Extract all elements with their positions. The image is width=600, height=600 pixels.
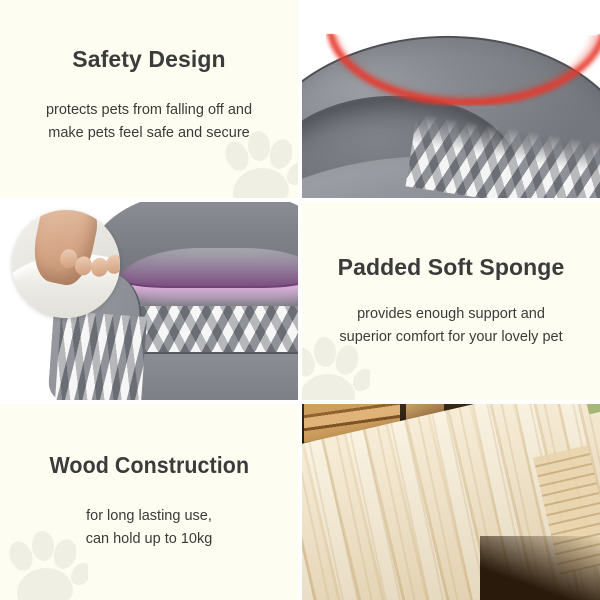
panel-wood-planks-photo <box>302 404 600 600</box>
magnifier-inset-circle <box>12 210 120 318</box>
workbench-shadow <box>480 536 600 600</box>
panel-padded-soft-sponge: Padded Soft Sponge provides enough suppo… <box>302 202 600 400</box>
panel-title-wood-construction: Wood Construction <box>49 452 249 479</box>
panel-title-safety-design: Safety Design <box>72 46 225 73</box>
paw-print-watermark-icon <box>2 530 88 600</box>
pet-bed-cushion <box>116 248 298 310</box>
panel-body-safety-design: protects pets from falling off and make … <box>46 99 252 145</box>
panel-body-wood-construction: for long lasting use, can hold up to 10k… <box>86 505 213 551</box>
panel-safety-design: Safety Design protects pets from falling… <box>0 0 298 198</box>
product-feature-infographic: Safety Design protects pets from falling… <box>0 0 600 600</box>
panel-title-padded-soft-sponge: Padded Soft Sponge <box>338 254 565 281</box>
pet-bed-lower-base <box>140 352 298 400</box>
panel-body-padded-soft-sponge: provides enough support and superior com… <box>339 303 562 349</box>
panel-chair-photo <box>302 0 600 198</box>
panel-wood-construction: Wood Construction for long lasting use, … <box>0 404 298 600</box>
panel-sponge-press-photo <box>0 202 298 400</box>
chevron-fabric-armrest <box>55 311 147 400</box>
green-debris <box>587 404 600 414</box>
